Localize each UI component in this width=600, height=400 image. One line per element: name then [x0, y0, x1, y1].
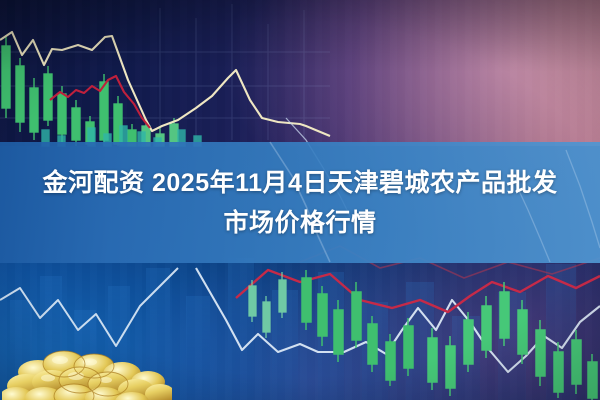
gold-coins-pile — [2, 336, 172, 400]
title-block: 金河配资 2025年11月4日天津碧城农产品批发 市场价格行情 — [0, 142, 600, 263]
title-line-2: 市场价格行情 — [223, 204, 376, 242]
title-line-1: 金河配资 2025年11月4日天津碧城农产品批发 — [43, 164, 558, 202]
banner-image: 金河配资 2025年11月4日天津碧城农产品批发 市场价格行情 — [0, 0, 600, 400]
